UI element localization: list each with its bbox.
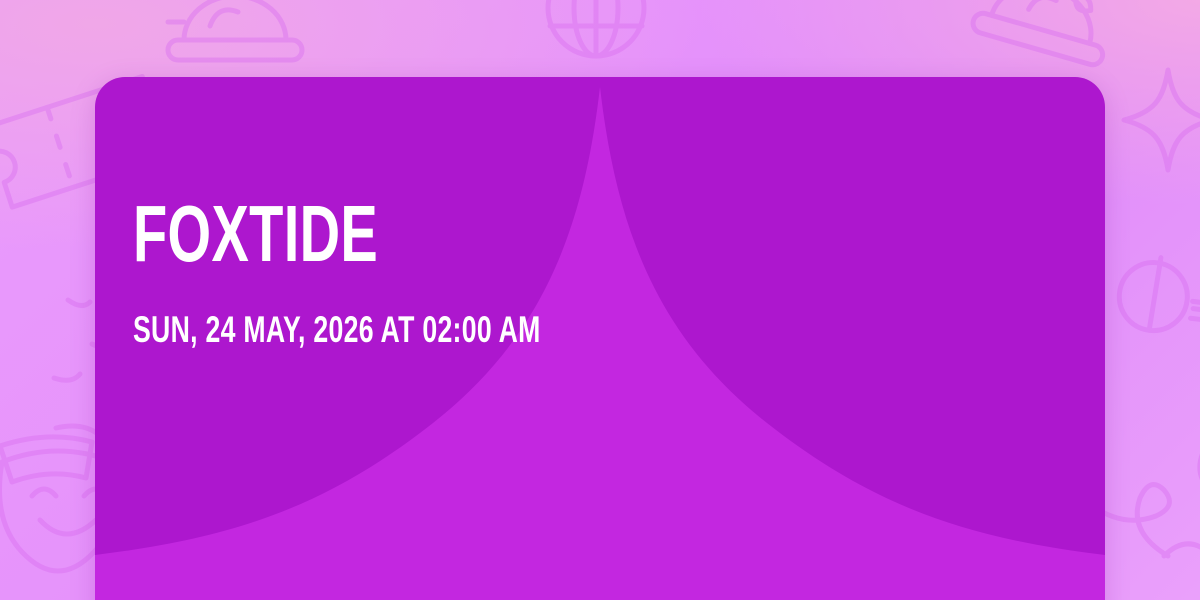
event-card-screen: FOXTIDE SUN, 24 MAY, 2026 AT 02:00 AM (0, 0, 1200, 600)
event-card[interactable]: FOXTIDE SUN, 24 MAY, 2026 AT 02:00 AM (95, 77, 1105, 600)
page-title: FOXTIDE (133, 197, 785, 271)
card-text-block: FOXTIDE SUN, 24 MAY, 2026 AT 02:00 AM (133, 77, 1065, 600)
event-datetime: SUN, 24 MAY, 2026 AT 02:00 AM (133, 271, 804, 348)
